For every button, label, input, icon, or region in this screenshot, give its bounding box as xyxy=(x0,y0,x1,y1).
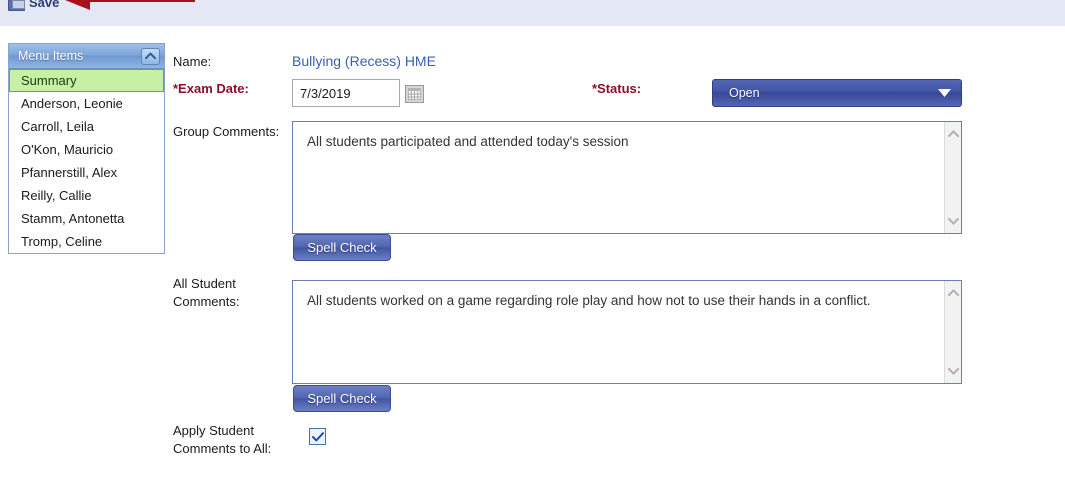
menu-item-anderson-leonie[interactable]: Anderson, Leonie xyxy=(9,92,164,115)
menu-item-stamm-antonetta[interactable]: Stamm, Antonetta xyxy=(9,207,164,230)
group-comments-scrollbar[interactable] xyxy=(944,122,961,233)
menu-item-reilly-callie[interactable]: Reilly, Callie xyxy=(9,184,164,207)
top-toolbar: Save xyxy=(0,0,1065,27)
calendar-icon[interactable] xyxy=(405,85,424,103)
chevron-down-icon[interactable] xyxy=(945,363,962,380)
chevron-up-icon[interactable] xyxy=(945,284,962,301)
menu-items-title: Menu Items xyxy=(18,49,83,63)
chevron-up-icon[interactable] xyxy=(945,125,962,142)
status-label: *Status: xyxy=(592,81,641,96)
annotation-arrow xyxy=(60,0,195,14)
chevron-up-icon[interactable] xyxy=(141,48,160,65)
status-value: Open xyxy=(729,86,760,100)
chevron-down-icon xyxy=(938,84,951,102)
save-button-label: Save xyxy=(29,0,59,10)
all-student-comments-value: All students worked on a game regarding … xyxy=(307,292,925,309)
menu-item-tromp-celine[interactable]: Tromp, Celine xyxy=(9,230,164,253)
check-icon xyxy=(312,432,324,442)
name-value: Bullying (Recess) HME xyxy=(292,53,436,69)
chevron-down-icon[interactable] xyxy=(945,213,962,230)
all-student-comments-textarea[interactable]: All students worked on a game regarding … xyxy=(292,280,962,384)
group-comments-label: Group Comments: xyxy=(173,124,279,139)
floppy-disk-icon xyxy=(8,0,25,11)
menu-item-carroll-leila[interactable]: Carroll, Leila xyxy=(9,115,164,138)
menu-item-label: Tromp, Celine xyxy=(21,234,102,249)
exam-date-label: *Exam Date: xyxy=(173,81,249,96)
menu-item-label: Reilly, Callie xyxy=(21,188,92,203)
menu-item-pfannerstill-alex[interactable]: Pfannerstill, Alex xyxy=(9,161,164,184)
menu-items-header[interactable]: Menu Items xyxy=(9,44,164,69)
apply-student-comments-label: Apply Student Comments to All: xyxy=(173,422,298,458)
menu-items-list: SummaryAnderson, LeonieCarroll, LeilaO'K… xyxy=(9,69,164,253)
spell-check-all-button[interactable]: Spell Check xyxy=(293,385,391,412)
spell-check-group-button[interactable]: Spell Check xyxy=(293,234,391,261)
menu-item-label: Stamm, Antonetta xyxy=(21,211,124,226)
menu-item-label: Carroll, Leila xyxy=(21,119,94,134)
all-student-comments-label: All Student Comments: xyxy=(173,275,283,311)
group-comments-textarea[interactable]: All students participated and attended t… xyxy=(292,121,962,234)
apply-student-comments-checkbox[interactable] xyxy=(309,428,326,445)
group-comments-value: All students participated and attended t… xyxy=(307,133,925,150)
menu-item-label: Summary xyxy=(21,73,77,88)
menu-item-o-kon-mauricio[interactable]: O'Kon, Mauricio xyxy=(9,138,164,161)
name-label: Name: xyxy=(173,54,211,69)
status-dropdown[interactable]: Open xyxy=(712,79,962,107)
exam-date-input[interactable] xyxy=(292,79,400,107)
menu-item-label: Pfannerstill, Alex xyxy=(21,165,117,180)
all-student-comments-scrollbar[interactable] xyxy=(944,281,961,383)
menu-items-panel: Menu Items SummaryAnderson, LeonieCarrol… xyxy=(8,43,165,254)
menu-item-label: Anderson, Leonie xyxy=(21,96,123,111)
menu-item-label: O'Kon, Mauricio xyxy=(21,142,113,157)
save-button[interactable]: Save xyxy=(8,0,59,13)
menu-item-summary[interactable]: Summary xyxy=(9,69,164,92)
